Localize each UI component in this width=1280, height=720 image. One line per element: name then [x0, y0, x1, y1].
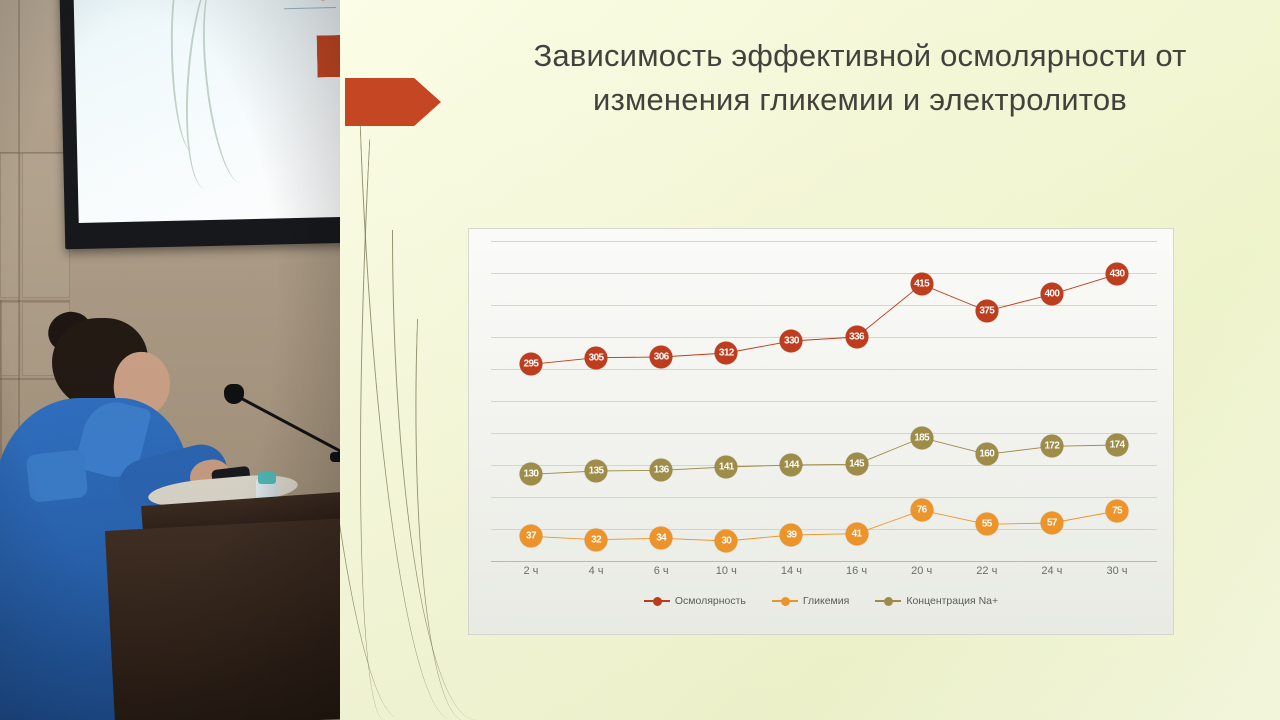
chart-point-label: 41 [845, 522, 868, 545]
chart-point-label: 141 [715, 456, 738, 479]
chart-plot-area: 2953053063123303364153754004303732343039… [491, 241, 1157, 561]
chart-point-label: 312 [715, 342, 738, 365]
chart-point-label: 57 [1040, 512, 1063, 535]
presentation-recording-stage: 31 Зависимость эффективной [0, 0, 1280, 720]
chart-point-label: 55 [975, 513, 998, 536]
chart-point-label: 136 [650, 459, 673, 482]
chart-x-tick: 6 ч [654, 565, 669, 577]
chart-x-tick: 4 ч [589, 565, 604, 577]
chart-x-tick: 14 ч [781, 565, 802, 577]
chart-line-Осмолярность [531, 274, 1117, 364]
chart-point-label: 400 [1040, 283, 1063, 306]
projected-slide-preview: 31 [73, 0, 340, 223]
legend-item-Осмолярность[interactable]: Осмолярность [644, 595, 746, 607]
chart-point-label: 76 [910, 499, 933, 522]
reed-decoration-icon [392, 230, 476, 720]
bottle-cap [258, 472, 276, 484]
chart-point-label: 160 [975, 443, 998, 466]
chart-point-label: 430 [1106, 263, 1129, 286]
chart-point-label: 144 [780, 454, 803, 477]
chart-point-label: 330 [780, 330, 803, 353]
legend-marker-icon [644, 596, 670, 606]
chart-point-label: 305 [585, 346, 608, 369]
legend-item-Концентрация Na+[interactable]: Концентрация Na+ [875, 595, 998, 607]
presentation-slide: Зависимость эффективной осмолярности от … [340, 0, 1280, 720]
chart-point-label: 39 [780, 524, 803, 547]
chart-gridline [491, 561, 1157, 562]
chart-x-tick: 30 ч [1107, 565, 1128, 577]
slide-rule [284, 7, 336, 9]
chart-x-tick: 2 ч [524, 565, 539, 577]
chart-x-tick: 22 ч [976, 565, 997, 577]
legend-label: Осмолярность [675, 595, 746, 607]
microphone-stem [231, 392, 340, 455]
chart-x-tick: 16 ч [846, 565, 867, 577]
speaker-pocket [26, 449, 89, 503]
legend-marker-icon [772, 596, 798, 606]
chart-line-Гликемия [531, 510, 1117, 541]
projector-screen-frame: 31 [59, 0, 340, 249]
chart-x-tick: 10 ч [716, 565, 737, 577]
chart-point-label: 135 [585, 460, 608, 483]
chart-point-label: 34 [650, 527, 673, 550]
chart-point-label: 185 [910, 426, 933, 449]
microphone-base [330, 452, 340, 462]
chart-legend: ОсмолярностьГликемияКонцентрация Na+ [469, 595, 1173, 607]
legend-marker-icon [875, 596, 901, 606]
chart-point-label: 174 [1106, 434, 1129, 457]
chart-point-label: 336 [845, 326, 868, 349]
legend-item-Гликемия[interactable]: Гликемия [772, 595, 849, 607]
chart-point-label: 37 [519, 525, 542, 548]
chart-point-label: 30 [715, 530, 738, 553]
chart-x-axis: 2 ч4 ч6 ч10 ч14 ч16 ч20 ч22 ч24 ч30 ч [491, 565, 1157, 587]
chart-line-Концентрация Na+ [531, 438, 1117, 475]
right-arrow-banner-icon [345, 78, 441, 126]
chart-point-label: 145 [845, 453, 868, 476]
speaker-video-feed: 31 [0, 0, 340, 720]
legend-label: Концентрация Na+ [906, 595, 998, 607]
wall-block [0, 302, 20, 376]
chart-point-label: 415 [910, 273, 933, 296]
chart-point-label: 75 [1106, 500, 1129, 523]
reed-decoration-icon [340, 139, 415, 720]
chart-x-tick: 20 ч [911, 565, 932, 577]
slide-number-badge: 31 [314, 0, 331, 1]
chart-point-label: 375 [975, 300, 998, 323]
reed-decoration-icon [340, 299, 399, 720]
page-title: Зависимость эффективной осмолярности от … [460, 34, 1260, 122]
legend-label: Гликемия [803, 595, 849, 607]
chart-x-tick: 24 ч [1041, 565, 1062, 577]
chart-point-label: 295 [519, 353, 542, 376]
chart-point-label: 130 [519, 463, 542, 486]
wall-block [0, 152, 20, 298]
podium [105, 517, 340, 720]
chart-point-label: 172 [1040, 435, 1063, 458]
chart-container: 2953053063123303364153754004303732343039… [468, 228, 1174, 635]
reed-decoration-icon [360, 119, 451, 720]
chart-point-label: 32 [585, 528, 608, 551]
slide-arrow-icon [317, 35, 340, 78]
microphone-icon [224, 384, 244, 404]
chart-point-label: 306 [650, 346, 673, 369]
